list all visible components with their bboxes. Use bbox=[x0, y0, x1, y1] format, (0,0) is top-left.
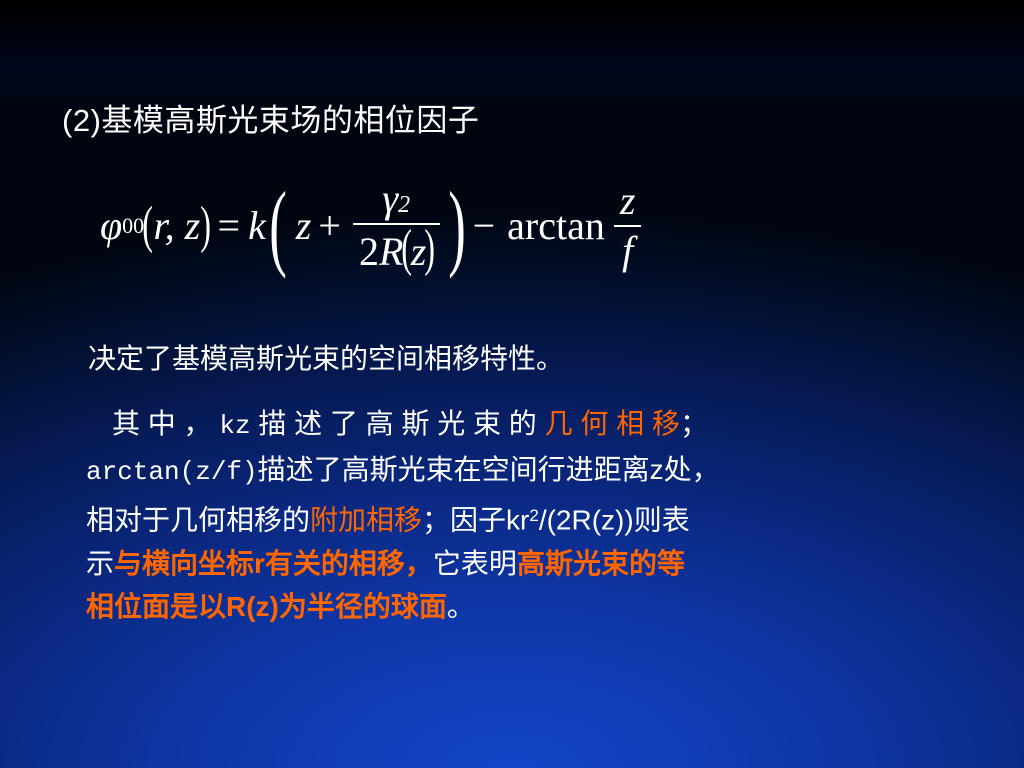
paragraph-seg4-highlight: 几 何 相 移 bbox=[545, 408, 680, 439]
paragraph-seg13-highlight: 与横向坐标r有关的相移， bbox=[114, 548, 433, 579]
equation-arctan-f: f bbox=[622, 230, 633, 272]
equation-lhs-args: r, z bbox=[153, 202, 200, 249]
equation-arctan-label: arctan bbox=[507, 202, 605, 249]
equation-plus: + bbox=[318, 202, 341, 249]
equation-block: φ00 ( r, z ) = k ( z + γ2 2R(z) ) − arct… bbox=[100, 178, 646, 273]
equation-fraction-denominator: 2R(z) bbox=[353, 228, 440, 273]
slide-title: (2)基模高斯光束场的相位因子 bbox=[62, 95, 479, 140]
paragraph-line-4: 示与横向坐标r有关的相移，它表明高斯光束的等 bbox=[86, 542, 986, 585]
equation-lhs-paren-close: ) bbox=[200, 205, 211, 247]
paragraph-seg1: 其 中 ， bbox=[112, 408, 212, 439]
equation-fraction-numerator: γ2 bbox=[376, 178, 416, 220]
equation-denominator-coeff: 2 bbox=[359, 231, 379, 273]
slide-canvas: (2)基模高斯光束场的相位因子 φ00 ( r, z ) = k ( z + γ… bbox=[0, 0, 1024, 768]
paragraph-line-5: 相位面是以R(z)为半径的球面。 bbox=[86, 585, 986, 628]
paragraph-line-1: 其 中 ， kz 描 述 了 高 斯 光 束 的 几 何 相 移； bbox=[86, 402, 986, 448]
body-line-1: 决定了基模高斯光束的空间相移特性。 bbox=[88, 337, 564, 377]
equation-phi-symbol: φ bbox=[100, 202, 122, 249]
equation-lhs-paren-open: ( bbox=[142, 205, 153, 247]
paragraph-seg2-kz: kz bbox=[219, 411, 250, 441]
equation-denominator-paren-open: ( bbox=[402, 228, 413, 270]
paragraph-seg14: 它表明 bbox=[433, 548, 517, 579]
equation-minus: − bbox=[473, 202, 496, 249]
equation-z-term: z bbox=[296, 202, 312, 249]
body-paragraph: 其 中 ， kz 描 述 了 高 斯 光 束 的 几 何 相 移； arctan… bbox=[86, 402, 986, 628]
equation-k: k bbox=[248, 202, 266, 249]
paragraph-seg5: ； bbox=[680, 408, 708, 439]
equation-gamma-exponent: 2 bbox=[398, 193, 410, 218]
equation-denominator-paren-close: ) bbox=[425, 228, 436, 270]
paragraph-seg10-sup: 2 bbox=[529, 506, 538, 525]
equation-equals: = bbox=[218, 202, 241, 249]
paragraph-line-3: 相对于几何相移的附加相移；因子kr2/(2R(z))则表 bbox=[86, 494, 986, 542]
paragraph-seg12: 示 bbox=[86, 548, 114, 579]
equation-fraction: γ2 2R(z) bbox=[353, 178, 440, 273]
equation-gamma: γ bbox=[382, 178, 398, 220]
paragraph-seg16-highlight: 相位面是以R(z)为半径的球面 bbox=[86, 591, 447, 622]
equation-bracket-open: ( bbox=[269, 191, 287, 260]
equation-arctan-fraction: z f bbox=[614, 180, 642, 272]
paragraph-seg3: 描 述 了 高 斯 光 束 的 bbox=[258, 408, 536, 439]
paragraph-seg9-highlight: 附加相移 bbox=[310, 505, 422, 536]
paragraph-seg15-highlight: 高斯光束的等 bbox=[517, 548, 685, 579]
paragraph-seg6-arctan: arctan(z/f) bbox=[86, 457, 258, 487]
equation-denominator-R: R bbox=[379, 231, 403, 273]
equation-bracket-close: ) bbox=[448, 191, 466, 260]
paragraph-line-2: arctan(z/f)描述了高斯光束在空间行进距离z处， bbox=[86, 448, 986, 494]
equation-arctan-z: z bbox=[620, 180, 636, 222]
equation-arctan-denominator: f bbox=[616, 230, 639, 272]
equation-phi-subscript: 00 bbox=[122, 213, 144, 239]
paragraph-seg17: 。 bbox=[447, 591, 475, 622]
paragraph-seg11: /(2R(z))则表 bbox=[539, 505, 690, 536]
paragraph-seg8: 相对于几何相移的 bbox=[86, 505, 310, 536]
paragraph-seg10: ；因子kr bbox=[422, 505, 529, 536]
equation-arctan-bar bbox=[614, 225, 642, 227]
equation-arctan-numerator: z bbox=[614, 180, 642, 222]
paragraph-seg7: 描述了高斯光束在空间行进距离z处， bbox=[258, 454, 720, 485]
